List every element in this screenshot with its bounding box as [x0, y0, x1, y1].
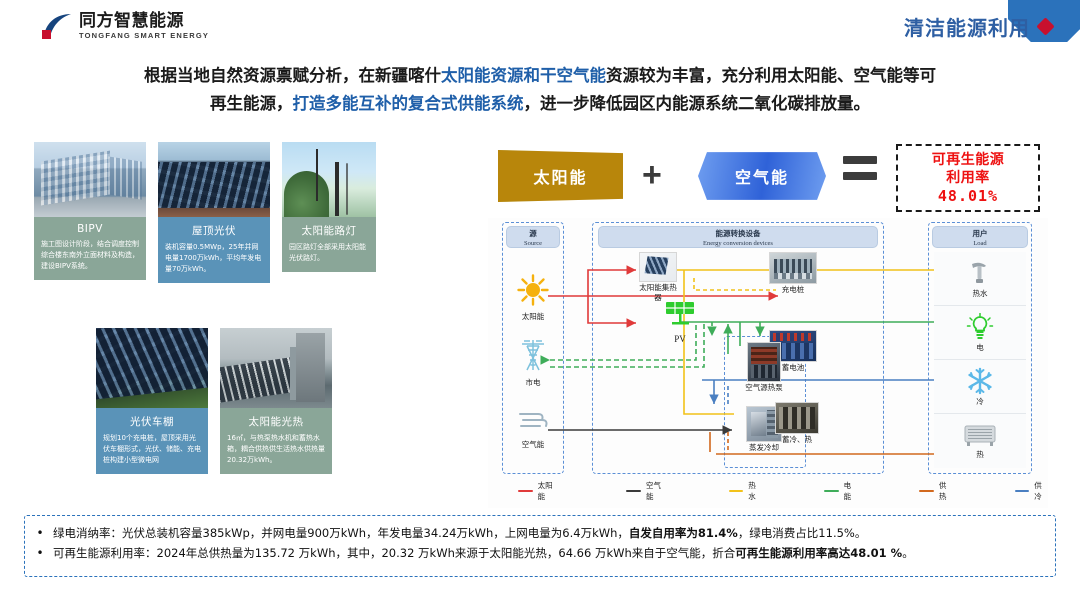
- lead-l1-a: 根据当地自然资源禀赋分析，在新疆喀什: [144, 66, 441, 85]
- lead-l1-b: 资源较为丰富，充分利用太阳能、空气能等可: [606, 66, 936, 85]
- photo-card-grid: BIPV 施工图设计阶段，结合调度控制综合楼东南外立面材料及构造，建设BIPV系…: [34, 142, 378, 502]
- load-label: 冷: [976, 396, 984, 407]
- card-title: 光伏车棚: [103, 414, 201, 429]
- lead-l1-highlight: 太阳能资源和干空气能: [441, 66, 606, 85]
- snowflake-icon: [966, 367, 994, 395]
- lead-paragraph: 根据当地自然资源禀赋分析，在新疆喀什太阳能资源和干空气能资源较为丰富，充分利用太…: [40, 62, 1040, 118]
- note1-seg2: ，绿电消费占比11.5%。: [738, 526, 867, 540]
- legend-item-hot-water: 热水: [729, 480, 762, 502]
- solar-street-lamp-photo: [282, 142, 376, 217]
- light-bulb-icon: [966, 313, 994, 341]
- bipv-building-photo: [34, 142, 146, 217]
- radiator-icon: [963, 422, 997, 448]
- load-node-heating[interactable]: 热: [934, 414, 1026, 468]
- tongfang-logo-icon: [40, 11, 74, 41]
- lead-line-2: 再生能源，打造多能互补的复合式供能系统，进一步降低园区内能源系统二氧化碳排放量。: [40, 90, 1040, 118]
- source-node-solar: 太阳能: [506, 274, 560, 322]
- company-logo: 同方智慧能源 TONGFANG SMART ENERGY: [40, 11, 209, 41]
- legend-label: 供热: [939, 480, 953, 502]
- slide-root: 同方智慧能源 TONGFANG SMART ENERGY 清洁能源利用 根据当地…: [0, 0, 1080, 602]
- note-row-2: • 可再生能源利用率：2024年总供热量为135.72 万kWh，其中，20.3…: [27, 543, 1049, 563]
- hot-water-tap-icon: [968, 259, 992, 287]
- page-title: 清洁能源利用: [904, 12, 1030, 41]
- source-label: 空气能: [506, 440, 560, 450]
- renewable-utilization-result: 可再生能源 利用率 48.01%: [896, 144, 1040, 212]
- card-description: 16㎡，与热泵热水机和蓄热水箱，耦合供热供生活热水供热量20.32万kWh。: [227, 433, 325, 466]
- legend-item-air: 空气能: [626, 480, 666, 502]
- source-node-grid: 市电: [506, 336, 560, 388]
- card-title: BIPV: [41, 223, 139, 235]
- energy-system-diagram: 源 Source 能源转换设备 Energy conversion device…: [488, 218, 1048, 508]
- source-node-air: 空气能: [506, 408, 560, 450]
- legend-label: 空气能: [646, 480, 667, 502]
- legend-label: 供冷: [1034, 480, 1048, 502]
- note-row-1: • 绿电消纳率：光伏总装机容量385kWp，并网电量900万kWh，年发电量34…: [27, 523, 1049, 543]
- pv-panel-icon: [663, 300, 697, 328]
- note-text-1: 绿电消纳率：光伏总装机容量385kWp，并网电量900万kWh，年发电量34.2…: [53, 523, 1049, 543]
- note1-seg0: 绿电消纳率：光伏总装机容量385kWp，并网电量900万kWh，年发电量34.2…: [53, 526, 629, 540]
- card-rooftop-pv[interactable]: 屋顶光伏 装机容量0.5MWp，25年并网电量1700万kWh，平均年发电量70…: [158, 142, 270, 312]
- plus-sign-icon: +: [642, 157, 662, 193]
- card-description: 规划10个充电桩，屋顶采用光伏车棚形式，光伏、储能、充电桩构建小型微电网: [103, 433, 201, 466]
- lead-line-1: 根据当地自然资源禀赋分析，在新疆喀什太阳能资源和干空气能资源较为丰富，充分利用太…: [40, 62, 1040, 90]
- note2-seg0: 可再生能源利用率：2024年总供热量为135.72 万kWh，其中，20.32 …: [53, 546, 735, 560]
- legend-item-heating: 供热: [919, 480, 952, 502]
- equipment-node-heat-pump[interactable]: 空气源热泵: [734, 342, 794, 393]
- legend-swatch: [518, 490, 533, 493]
- lead-l2-a: 再生能源，: [210, 94, 293, 113]
- diagram-legend: 太阳能 空气能 热水 电能 供热 供冷: [488, 480, 1048, 502]
- sun-icon: [517, 274, 549, 306]
- legend-item-cooling: 供冷: [1015, 480, 1048, 502]
- solar-collector-thumb: [639, 252, 677, 282]
- lead-l2-highlight: 打造多能互补的复合式供能系统: [293, 94, 524, 113]
- source-label: 市电: [506, 378, 560, 388]
- card-title: 太阳能路灯: [289, 223, 369, 238]
- heat-pump-thumb: [747, 342, 781, 382]
- bullet-icon: •: [27, 543, 53, 563]
- note2-seg1: 可再生能源利用率高达48.01 %: [735, 546, 902, 560]
- card-description: 施工图设计阶段，结合调度控制综合楼东南外立面材料及构造，建设BIPV系统。: [41, 239, 139, 272]
- card-pv-carport[interactable]: 光伏车棚 规划10个充电桩，屋顶采用光伏车棚形式，光伏、储能、充电桩构建小型微电…: [96, 328, 208, 500]
- lead-l2-b: ，进一步降低园区内能源系统二氧化碳排放量。: [524, 94, 871, 113]
- legend-swatch: [1015, 490, 1030, 493]
- result-value: 48.01%: [938, 187, 998, 205]
- solar-thermal-photo: [220, 328, 332, 408]
- note2-seg2: 。: [902, 546, 914, 560]
- card-title: 屋顶光伏: [165, 223, 263, 238]
- legend-item-solar: 太阳能: [518, 480, 558, 502]
- equipment-node-pv[interactable]: PV: [658, 300, 702, 344]
- load-node-cooling[interactable]: 冷: [934, 360, 1026, 414]
- card-solar-thermal[interactable]: 太阳能光热 16㎡，与热泵热水机和蓄热水箱，耦合供热供生活热水供热量20.32万…: [220, 328, 332, 500]
- legend-item-electricity: 电能: [824, 480, 857, 502]
- power-tower-icon: [518, 336, 548, 372]
- equipment-node-solar-collector[interactable]: 太阳能集热器: [636, 252, 680, 303]
- load-node-electricity[interactable]: 电: [934, 306, 1026, 360]
- bullet-icon: •: [27, 523, 53, 543]
- slide-header: 同方智慧能源 TONGFANG SMART ENERGY 清洁能源利用: [0, 0, 1080, 52]
- result-label-line2: 利用率: [946, 169, 990, 187]
- load-node-hot-water[interactable]: 热水: [934, 252, 1026, 306]
- air-energy-badge: 空气能: [698, 150, 826, 202]
- equipment-node-charging-pile[interactable]: 充电桩: [766, 252, 820, 295]
- legend-label: 电能: [844, 480, 858, 502]
- legend-swatch: [626, 490, 641, 493]
- result-label-line1: 可再生能源: [932, 151, 1005, 169]
- card-title: 太阳能光热: [227, 414, 325, 429]
- equipment-label: PV: [658, 334, 702, 344]
- wind-icon: [516, 408, 550, 434]
- note1-seg1: 自发自用率为81.4%: [629, 526, 738, 540]
- card-description: 园区路灯全部采用太阳能光伏路灯。: [289, 242, 369, 264]
- legend-swatch: [824, 490, 839, 493]
- section-title-group: 清洁能源利用: [904, 0, 1056, 52]
- legend-swatch: [919, 490, 934, 493]
- card-solar-street-lamp[interactable]: 太阳能路灯 园区路灯全部采用太阳能光伏路灯。: [282, 142, 376, 312]
- energy-formula-row: 太阳能 + 空气能 可再生能源 利用率 48.01%: [488, 144, 1048, 214]
- legend-label: 太阳能: [538, 480, 559, 502]
- rooftop-pv-photo: [158, 142, 270, 217]
- diamond-marker-icon: [1036, 17, 1054, 35]
- note-text-2: 可再生能源利用率：2024年总供热量为135.72 万kWh，其中，20.32 …: [53, 543, 1049, 563]
- equals-sign-icon: [843, 156, 877, 180]
- equipment-label: 充电桩: [766, 285, 820, 295]
- solar-energy-badge: 太阳能: [498, 150, 623, 202]
- legend-swatch: [729, 490, 744, 493]
- thermal-storage-thumb: [775, 402, 819, 434]
- bottom-notes-box: • 绿电消纳率：光伏总装机容量385kWp，并网电量900万kWh，年发电量34…: [24, 515, 1056, 577]
- equipment-node-thermal-storage[interactable]: 蓄冷、热: [766, 402, 828, 445]
- logo-text-cn: 同方智慧能源: [79, 12, 209, 30]
- charging-pile-thumb: [769, 252, 817, 284]
- logo-text-en: TONGFANG SMART ENERGY: [79, 31, 209, 41]
- equipment-label: 蓄冷、热: [766, 435, 828, 445]
- card-bipv[interactable]: BIPV 施工图设计阶段，结合调度控制综合楼东南外立面材料及构造，建设BIPV系…: [34, 142, 146, 312]
- load-label: 电: [976, 342, 984, 353]
- pv-carport-photo: [96, 328, 208, 408]
- card-description: 装机容量0.5MWp，25年并网电量1700万kWh，平均年发电量70万kWh。: [165, 242, 263, 275]
- load-label: 热: [976, 449, 984, 460]
- equipment-label: 空气源热泵: [734, 383, 794, 393]
- load-label: 热水: [973, 288, 988, 299]
- source-label: 太阳能: [506, 312, 560, 322]
- legend-label: 热水: [748, 480, 762, 502]
